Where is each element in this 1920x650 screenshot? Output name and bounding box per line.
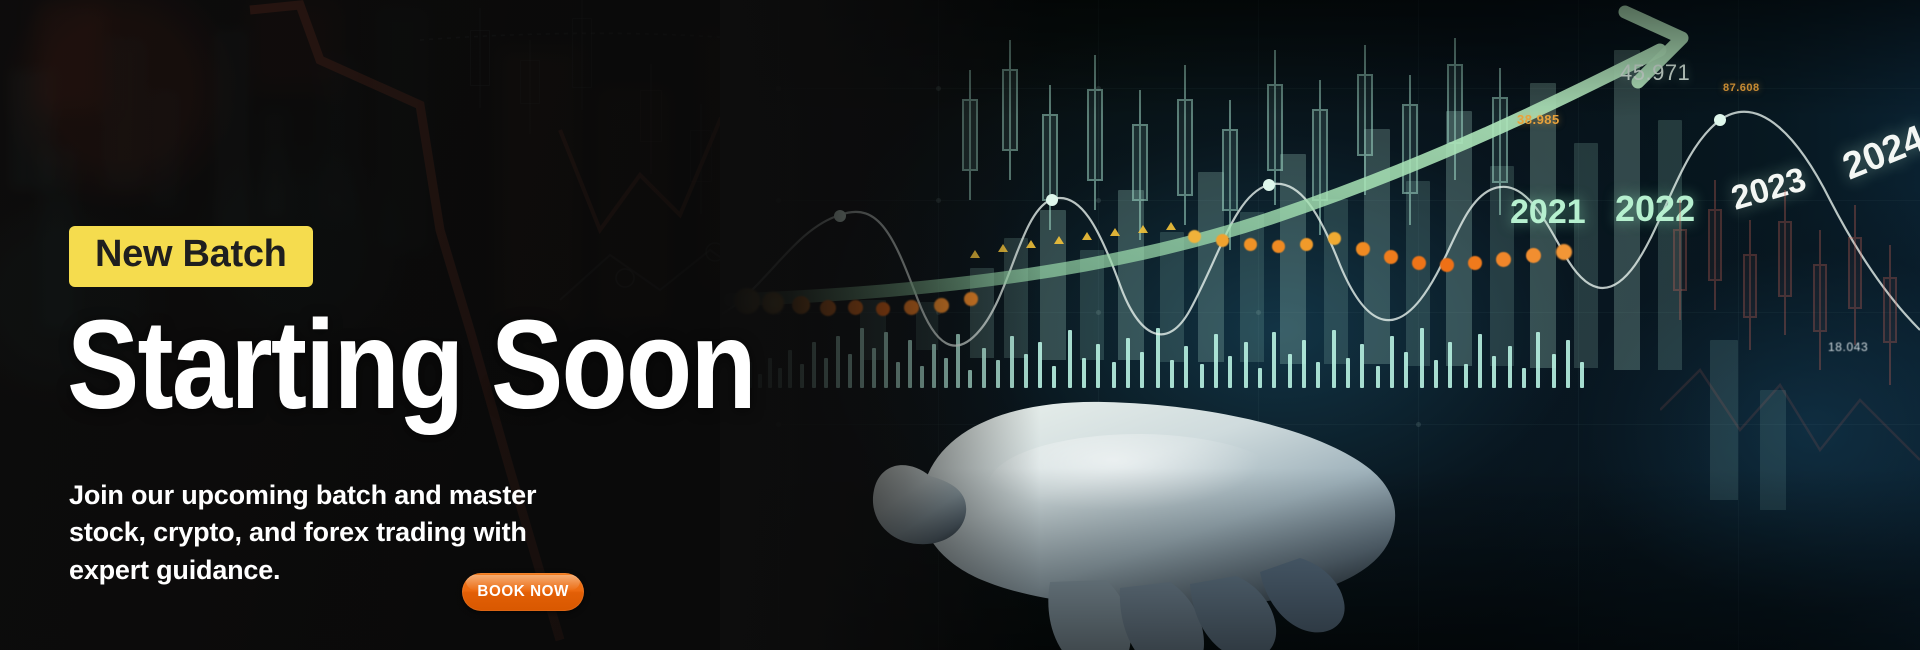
year-label-2021: 2021 <box>1510 193 1586 232</box>
promo-banner: 45.971 38.985 87.608 18.043 48.197 2021 … <box>0 0 1920 650</box>
banner-content: New Batch Starting Soon Join our upcomin… <box>0 0 820 650</box>
book-now-label: BOOK NOW <box>477 583 569 601</box>
right-edge-candles <box>1660 160 1920 580</box>
chart-value-38985: 38.985 <box>1517 112 1560 127</box>
new-batch-badge: New Batch <box>69 226 313 287</box>
subcopy-line-3: expert guidance. <box>69 552 699 589</box>
chart-value-45971: 45.971 <box>1620 60 1690 86</box>
chart-value-87608: 87.608 <box>1723 82 1760 94</box>
subcopy-line-2: stock, crypto, and forex trading with <box>69 514 699 551</box>
banner-subcopy: Join our upcoming batch and master stock… <box>69 477 699 589</box>
subcopy-line-1: Join our upcoming batch and master <box>69 477 699 514</box>
book-now-button[interactable]: BOOK NOW <box>462 573 584 611</box>
page-title: Starting Soon <box>67 307 755 423</box>
right-chart-artwork: 45.971 38.985 87.608 18.043 48.197 2021 … <box>720 0 1920 650</box>
